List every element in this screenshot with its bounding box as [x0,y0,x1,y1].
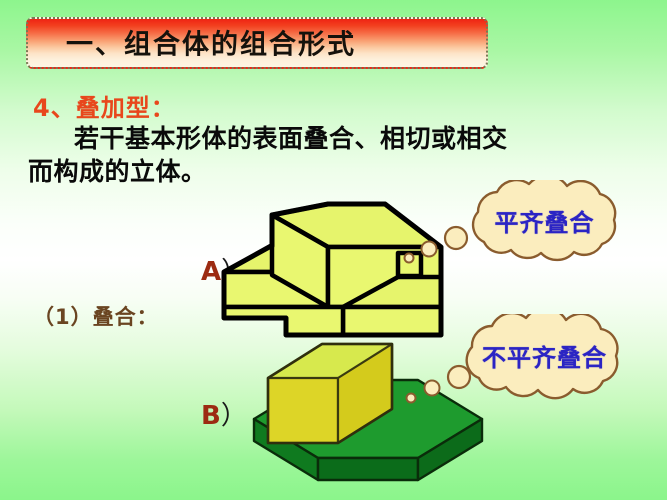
slide-canvas: 一、组合体的组合形式 4、叠加型： 若干基本形体的表面叠合、相切或相交 而构成的… [0,0,667,500]
figure-b-base-front [318,458,418,480]
figure-a-base-front [224,307,343,335]
figure-b-cube-outline [268,344,392,443]
sub-section-label: （1）叠合： [33,301,159,331]
figure-a-right-ledge-front [343,307,441,335]
paragraph-line-1: 若干基本形体的表面叠合、相切或相交 [28,122,653,155]
figure-b-cube-right [338,344,392,443]
figure-b-cube-top [268,344,392,412]
callout-1-text: 平齐叠合 [442,174,647,266]
figure-a-tread-top [224,246,390,272]
figure-a-solid [224,204,441,335]
figure-b-letter: B [201,401,221,431]
callout-bubble-2: 不平齐叠合 [437,314,656,409]
figure-a-right-ledge-top [343,277,441,307]
page-title: 一、组合体的组合形式 [66,23,356,62]
figure-b-label: B） [201,395,247,432]
callout-2-text: 不平齐叠合 [435,308,654,403]
figure-a-upper-top-left [271,204,385,247]
section-heading: 4、叠加型： [33,88,176,123]
figure-a-letter: A [201,257,221,287]
figure-a-upper-top [272,204,441,247]
trail-dot-small [405,254,414,263]
trail-dot-small [407,394,416,403]
figure-a-notch [398,253,421,276]
figure-b-paren: ） [221,401,247,431]
figure-b-cube-front [268,378,338,443]
figure-a-outline [224,204,441,335]
figure-b-cube-top-left [268,344,392,378]
trail-dot-medium [422,242,437,257]
figure-a-paren: ） [221,257,247,287]
figure-a-label: A） [201,251,247,288]
figure-a-upper-front [328,247,441,307]
title-banner: 一、组合体的组合形式 [26,17,488,69]
callout-bubble-1: 平齐叠合 [444,180,649,272]
figure-a-upper-left [272,215,328,307]
figure-b-base-left [254,419,318,480]
figure-b-base-right [418,419,482,480]
